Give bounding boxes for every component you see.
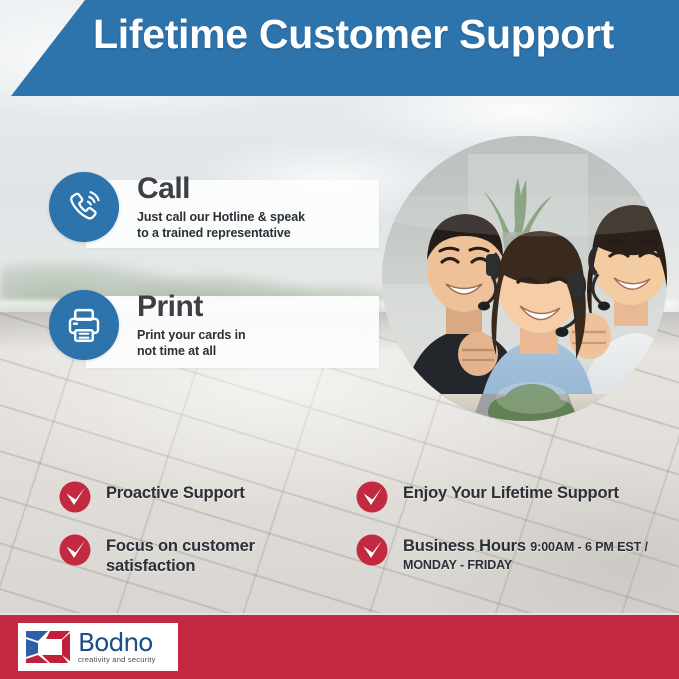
checklist-title-line2: satisfaction [106, 557, 195, 575]
brand-name: Bodno [78, 628, 152, 657]
feature-print-desc-line1: Print your cards in [137, 328, 246, 342]
checklist-item-proactive-support: Proactive Support [58, 483, 245, 514]
feature-print-desc-line2: not time at all [137, 344, 216, 358]
support-team-photo [382, 136, 667, 421]
brand-wordmark: Bodno creativity and security [78, 631, 156, 664]
page-title: Lifetime Customer Support [0, 11, 679, 58]
checklist-item-lifetime-support: Enjoy Your Lifetime Support [355, 483, 619, 514]
checklist-item-focus-on-customer: Focus on customer satisfaction [58, 536, 255, 576]
phone-call-icon [49, 172, 119, 242]
feature-call-text: Call Just call our Hotline & speak to a … [137, 172, 305, 241]
printer-icon [49, 290, 119, 360]
footer-bar: Bodno creativity and security [0, 613, 679, 679]
bodno-card-logo-icon [24, 628, 72, 666]
checklist-title: Enjoy Your Lifetime Support [403, 484, 619, 502]
checklist-title: Business Hours [403, 537, 526, 555]
feature-card-print: Print Print your cards in not time at al… [49, 290, 246, 360]
checklist-label: Proactive Support [106, 483, 245, 503]
check-circle-icon [355, 480, 389, 514]
feature-print-text: Print Print your cards in not time at al… [137, 290, 246, 359]
feature-call-desc-line1: Just call our Hotline & speak [137, 210, 305, 224]
poster-canvas: Lifetime Customer Support [0, 0, 679, 679]
check-circle-icon [355, 533, 389, 567]
checklist-title: Proactive Support [106, 484, 245, 502]
feature-card-call: Call Just call our Hotline & speak to a … [49, 172, 305, 242]
check-circle-icon [58, 480, 92, 514]
feature-call-desc-line2: to a trained representative [137, 226, 291, 240]
benefits-checklist: Proactive Support Focus on customer sati… [0, 476, 679, 586]
feature-call-title: Call [137, 174, 305, 204]
checklist-title: Focus on customer [106, 537, 255, 555]
header-banner: Lifetime Customer Support [0, 0, 679, 96]
checklist-label: Business Hours 9:00AM - 6 PM EST / MONDA… [403, 536, 679, 574]
checklist-label: Focus on customer satisfaction [106, 536, 255, 576]
feature-print-description: Print your cards in not time at all [137, 327, 246, 359]
brand-logo: Bodno creativity and security [18, 623, 178, 671]
checklist-label: Enjoy Your Lifetime Support [403, 483, 619, 503]
brand-tagline: creativity and security [78, 656, 156, 664]
check-circle-icon [58, 533, 92, 567]
checklist-item-business-hours: Business Hours 9:00AM - 6 PM EST / MONDA… [355, 536, 679, 574]
feature-call-description: Just call our Hotline & speak to a train… [137, 209, 305, 241]
feature-print-title: Print [137, 292, 246, 322]
